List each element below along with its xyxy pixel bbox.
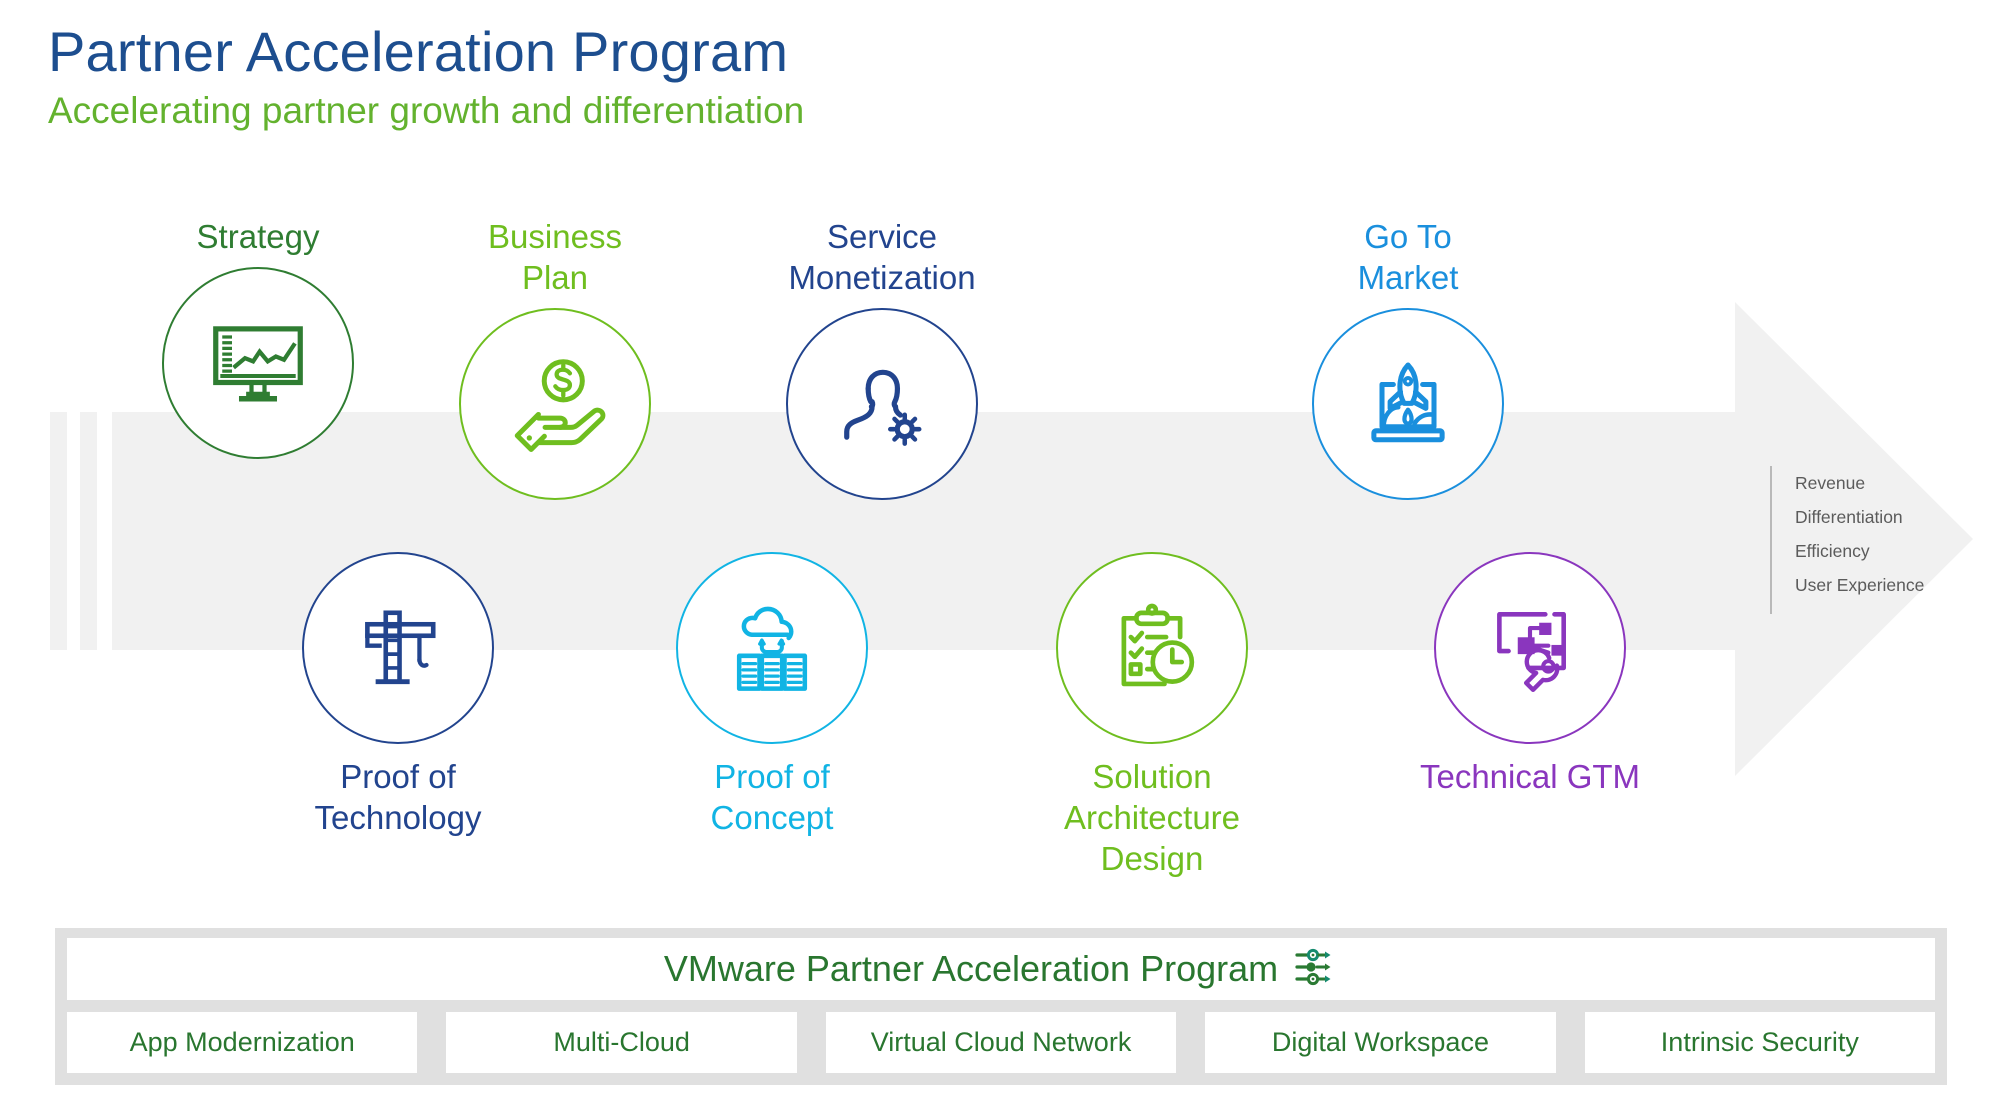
pillar-label: Virtual Cloud Network bbox=[871, 1027, 1132, 1058]
outcomes-list: Revenue Differentiation Efficiency User … bbox=[1770, 466, 1924, 614]
stage-circle[interactable] bbox=[459, 308, 651, 500]
stage-label: Strategy bbox=[128, 216, 388, 257]
outcome-item: Efficiency bbox=[1795, 534, 1924, 568]
pillar-item[interactable]: Multi-Cloud bbox=[446, 1012, 796, 1073]
crane-icon bbox=[349, 599, 447, 697]
stage-circle[interactable] bbox=[786, 308, 978, 500]
person-gear-icon bbox=[830, 352, 934, 456]
footer-title-text: VMware Partner Acceleration Program bbox=[664, 948, 1278, 990]
stage-circle[interactable] bbox=[1312, 308, 1504, 500]
stage-proof-of-concept[interactable]: Proof of Concept bbox=[642, 552, 902, 838]
stage-circle[interactable] bbox=[1056, 552, 1248, 744]
footer-title-bar: VMware Partner Acceleration Program bbox=[67, 938, 1935, 1000]
stage-label: Proof of Technology bbox=[268, 756, 528, 838]
clipboard-clock-icon bbox=[1102, 598, 1202, 698]
sliders-tuning-icon bbox=[1294, 947, 1338, 992]
page-subtitle: Accelerating partner growth and differen… bbox=[48, 91, 804, 132]
stage-label: Proof of Concept bbox=[642, 756, 902, 838]
stage-technical-gtm[interactable]: Technical GTM bbox=[1400, 552, 1660, 797]
outcome-item: User Experience bbox=[1795, 568, 1924, 602]
stage-label: Business Plan bbox=[425, 216, 685, 298]
stage-circle[interactable] bbox=[676, 552, 868, 744]
pillar-label: Multi-Cloud bbox=[553, 1027, 690, 1058]
pillar-item[interactable]: Digital Workspace bbox=[1205, 1012, 1555, 1073]
monitor-chart-icon bbox=[206, 311, 310, 415]
arrow-tail-stripe-1 bbox=[50, 412, 67, 650]
stage-circle[interactable] bbox=[302, 552, 494, 744]
pillar-list: App Modernization Multi-Cloud Virtual Cl… bbox=[67, 1012, 1935, 1073]
stage-label: Service Monetization bbox=[752, 216, 1012, 298]
stage-circle[interactable] bbox=[162, 267, 354, 459]
stage-solution-architecture-design[interactable]: Solution Architecture Design bbox=[1022, 552, 1282, 879]
outcome-item: Revenue bbox=[1795, 466, 1924, 500]
rocket-laptop-icon bbox=[1356, 352, 1460, 456]
pillar-item[interactable]: Virtual Cloud Network bbox=[826, 1012, 1176, 1073]
stage-circle[interactable] bbox=[1434, 552, 1626, 744]
pillar-label: Digital Workspace bbox=[1272, 1027, 1489, 1058]
stage-go-to-market[interactable]: Go To Market bbox=[1278, 216, 1538, 500]
stage-proof-of-technology[interactable]: Proof of Technology bbox=[268, 552, 528, 838]
header: Partner Acceleration Program Acceleratin… bbox=[48, 22, 804, 132]
stage-label: Technical GTM bbox=[1400, 756, 1660, 797]
cloud-documents-icon bbox=[722, 598, 822, 698]
pillar-label: App Modernization bbox=[130, 1027, 355, 1058]
footer-panel: VMware Partner Acceleration Program bbox=[55, 928, 1947, 1085]
page-title: Partner Acceleration Program bbox=[48, 22, 804, 82]
stage-service-monetization[interactable]: Service Monetization bbox=[752, 216, 1012, 500]
slide-canvas: Partner Acceleration Program Acceleratin… bbox=[0, 0, 1997, 1093]
stage-strategy[interactable]: Strategy bbox=[128, 216, 388, 459]
pillar-item[interactable]: App Modernization bbox=[67, 1012, 417, 1073]
network-wrench-icon bbox=[1481, 599, 1579, 697]
arrow-tail-stripe-2 bbox=[80, 412, 97, 650]
hand-dollar-icon bbox=[502, 351, 608, 457]
stage-business-plan[interactable]: Business Plan bbox=[425, 216, 685, 500]
outcome-item: Differentiation bbox=[1795, 500, 1924, 534]
pillar-item[interactable]: Intrinsic Security bbox=[1585, 1012, 1935, 1073]
stage-label: Solution Architecture Design bbox=[1022, 756, 1282, 879]
pillar-label: Intrinsic Security bbox=[1661, 1027, 1859, 1058]
stage-label: Go To Market bbox=[1278, 216, 1538, 298]
